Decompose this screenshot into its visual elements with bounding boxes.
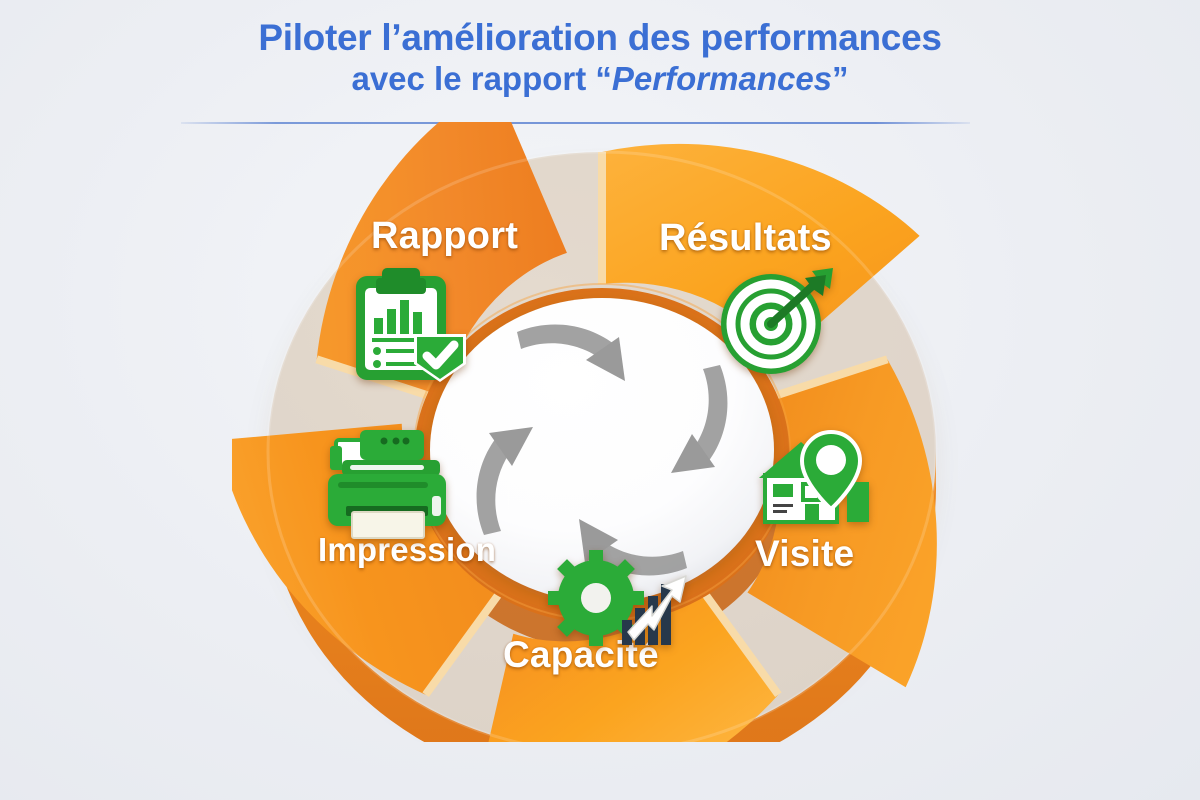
segment-label-resultats[interactable]: Résultats	[659, 217, 832, 260]
cycle-diagram: Rapport Résultats Visite Capacité Impres…	[0, 0, 1200, 800]
gear-growth-chart-icon	[548, 548, 690, 650]
target-dart-icon-wrap[interactable]	[717, 264, 837, 379]
printer-icon	[322, 424, 456, 540]
house-map-pin-icon	[753, 420, 883, 535]
printer-icon-wrap[interactable]	[322, 424, 456, 540]
segment-label-rapport[interactable]: Rapport	[371, 215, 518, 258]
house-map-pin-icon-wrap[interactable]	[753, 420, 883, 535]
segment-label-visite[interactable]: Visite	[755, 533, 854, 575]
gear-growth-chart-icon-wrap[interactable]	[548, 548, 690, 650]
clipboard-bar-chart-check-icon	[348, 262, 474, 388]
clipboard-bar-chart-check-icon-wrap[interactable]	[348, 262, 474, 388]
target-dart-icon	[717, 264, 837, 379]
